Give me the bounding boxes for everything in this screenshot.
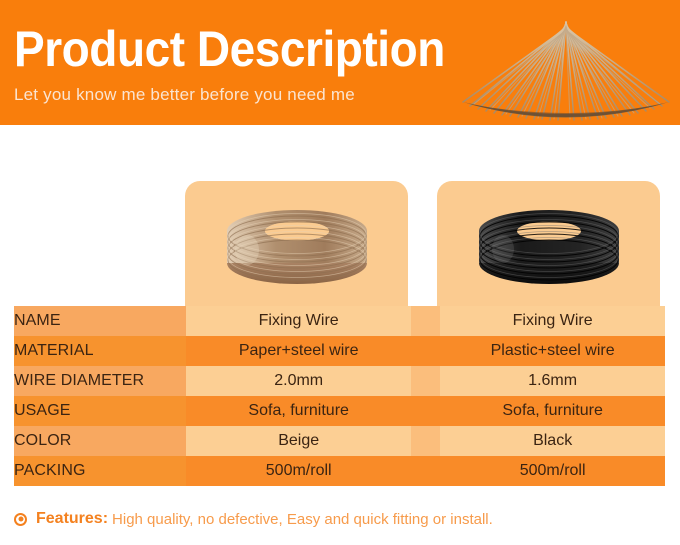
features-text: High quality, no defective, Easy and qui…	[112, 511, 493, 528]
spec-value-col2: 500m/roll	[440, 456, 665, 486]
table-row: USAGE Sofa, furniture Sofa, furniture	[14, 396, 665, 426]
column-separator	[411, 306, 440, 336]
page-subtitle: Let you know me better before you need m…	[14, 84, 355, 106]
spec-value-col2: Fixing Wire	[440, 306, 665, 336]
page-title: Product Description	[14, 22, 445, 76]
spec-table: NAME Fixing Wire Fixing Wire MATERIAL Pa…	[14, 306, 665, 486]
spec-label: PACKING	[14, 456, 186, 486]
spec-value-col2: Sofa, furniture	[440, 396, 665, 426]
spec-value-col1: Fixing Wire	[186, 306, 411, 336]
spec-value-col1: 500m/roll	[186, 456, 411, 486]
table-row: WIRE DIAMETER 2.0mm 1.6mm	[14, 366, 665, 396]
spec-label: USAGE	[14, 396, 186, 426]
product-card-1	[185, 181, 408, 306]
spec-value-col2: Plastic+steel wire	[440, 336, 665, 366]
table-row: NAME Fixing Wire Fixing Wire	[14, 306, 665, 336]
spec-value-col2: 1.6mm	[440, 366, 665, 396]
header-banner: Product Description Let you know me bett…	[0, 0, 680, 125]
spec-value-col1: Paper+steel wire	[186, 336, 411, 366]
table-row: COLOR Beige Black	[14, 426, 665, 456]
spec-value-col1: Sofa, furniture	[186, 396, 411, 426]
features-line: Features: High quality, no defective, Ea…	[14, 510, 493, 528]
ring-bullet-icon	[14, 513, 27, 526]
beige-wire-coil-icon	[217, 205, 377, 287]
wire-bundle-icon	[455, 14, 677, 124]
column-separator	[411, 366, 440, 396]
table-row: MATERIAL Paper+steel wire Plastic+steel …	[14, 336, 665, 366]
black-wire-coil-icon	[469, 205, 629, 287]
spec-value-col2: Black	[440, 426, 665, 456]
spec-label: WIRE DIAMETER	[14, 366, 186, 396]
column-separator	[411, 336, 440, 366]
product-card-2	[437, 181, 660, 306]
features-label: Features:	[36, 510, 108, 528]
spec-label: COLOR	[14, 426, 186, 456]
spec-value-col1: 2.0mm	[186, 366, 411, 396]
spec-value-col1: Beige	[186, 426, 411, 456]
column-separator	[411, 426, 440, 456]
column-separator	[411, 456, 440, 486]
spec-label: NAME	[14, 306, 186, 336]
spec-label: MATERIAL	[14, 336, 186, 366]
table-row: PACKING 500m/roll 500m/roll	[14, 456, 665, 486]
column-separator	[411, 396, 440, 426]
